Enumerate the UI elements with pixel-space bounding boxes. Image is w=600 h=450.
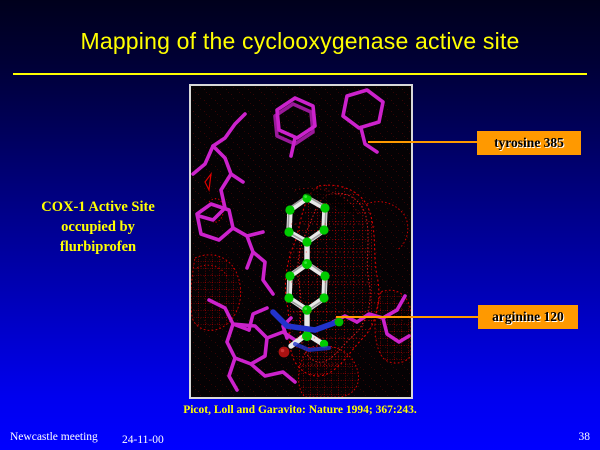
citation-text: Picot, Loll and Garavito: Nature 1994; 3… [0,404,600,416]
callout-tyrosine-385[interactable]: tyrosine 385 [477,131,581,155]
title-divider [13,73,587,75]
footer-meeting-name: Newcastle meeting [10,431,98,443]
slide-canvas: Mapping of the cyclooxygenase active sit… [0,0,600,450]
caption-block: COX-1 Active Site occupied by flurbiprof… [14,197,182,257]
tyrosine-385-leader-line [368,141,480,143]
caption-line-2: occupied by [14,217,182,237]
footer-date: 24-11-00 [122,434,164,446]
page-title: Mapping of the cyclooxygenase active sit… [0,28,600,55]
caption-line-3: flurbiprofen [14,237,182,257]
caption-line-1: COX-1 Active Site [14,197,182,217]
footer-page-number: 38 [579,431,591,443]
arginine-120-leader-line [336,316,480,318]
callout-arginine-120[interactable]: arginine 120 [478,305,578,329]
molecular-structure-graphic [191,86,411,397]
molecular-figure [189,84,413,399]
